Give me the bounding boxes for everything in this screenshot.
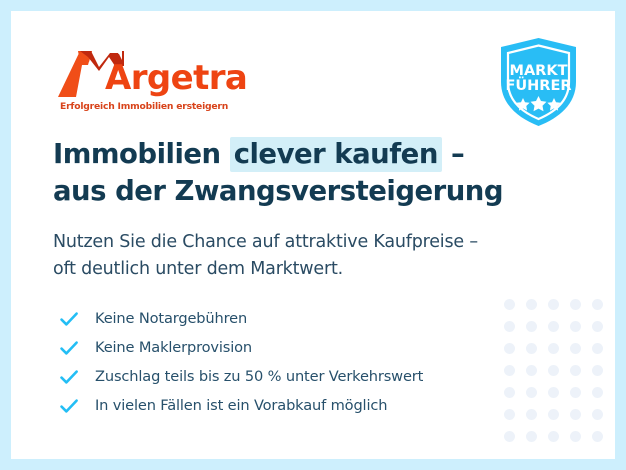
benefit-item: Keine Notargebühren [58, 304, 528, 333]
decorative-dot [548, 409, 559, 420]
decorative-dot [570, 387, 581, 398]
subheading-line-2: oft deutlich unter dem Marktwert. [53, 256, 573, 283]
benefit-item: Zuschlag teils bis zu 50 % unter Verkehr… [58, 362, 528, 391]
decorative-dot [592, 431, 603, 442]
decorative-dot [548, 343, 559, 354]
decorative-dot [592, 409, 603, 420]
headline: Immobilien clever kaufen – aus der Zwang… [53, 136, 573, 209]
banner-canvas: Argetra Erfolgreich Immobilien ersteiger… [11, 11, 615, 459]
benefit-item-label: In vielen Fällen ist ein Vorabkauf mögli… [95, 397, 387, 414]
headline-line-2: aus der Zwangsversteigerung [53, 173, 573, 210]
headline-highlight: clever kaufen [230, 137, 442, 172]
decorative-dot [526, 431, 537, 442]
decorative-dot [570, 365, 581, 376]
decorative-dot [570, 343, 581, 354]
decorative-dot [570, 299, 581, 310]
benefit-item-label: Keine Maklerprovision [95, 339, 252, 356]
check-icon [58, 337, 80, 359]
badge-line1: MARKT [510, 63, 568, 79]
decorative-dot [548, 299, 559, 310]
benefit-item-label: Zuschlag teils bis zu 50 % unter Verkehr… [95, 368, 423, 385]
headline-text-before: Immobilien [53, 138, 230, 170]
decorative-dot [592, 321, 603, 332]
benefit-list: Keine NotargebührenKeine Maklerprovision… [58, 304, 528, 420]
subheading: Nutzen Sie die Chance auf attraktive Kau… [53, 229, 573, 283]
logo-tagline: Erfolgreich Immobilien ersteigern [60, 101, 228, 112]
decorative-dot [548, 431, 559, 442]
benefit-item: In vielen Fällen ist ein Vorabkauf mögli… [58, 391, 528, 420]
check-icon [58, 366, 80, 388]
promo-banner: Argetra Erfolgreich Immobilien ersteiger… [0, 0, 626, 470]
subheading-line-1: Nutzen Sie die Chance auf attraktive Kau… [53, 229, 573, 256]
decorative-dot [570, 409, 581, 420]
headline-line-1: Immobilien clever kaufen – [53, 136, 573, 173]
decorative-dot [570, 431, 581, 442]
decorative-dot [504, 431, 515, 442]
decorative-dot [592, 387, 603, 398]
benefit-item-label: Keine Notargebühren [95, 310, 247, 327]
decorative-dot [592, 343, 603, 354]
check-icon [58, 308, 80, 330]
decorative-dot [592, 299, 603, 310]
logo-wordmark: Argetra [105, 61, 247, 95]
decorative-dot [548, 387, 559, 398]
decorative-dot [592, 365, 603, 376]
marktfuehrer-badge: MARKT FÜHRER [496, 36, 581, 128]
check-icon [58, 395, 80, 417]
decorative-dot [548, 321, 559, 332]
badge-line2: FÜHRER [505, 76, 571, 94]
benefit-item: Keine Maklerprovision [58, 333, 528, 362]
headline-text-after: – [442, 138, 464, 170]
decorative-dot [548, 365, 559, 376]
argetra-logo[interactable]: Argetra Erfolgreich Immobilien ersteiger… [58, 45, 248, 117]
decorative-dot [570, 321, 581, 332]
